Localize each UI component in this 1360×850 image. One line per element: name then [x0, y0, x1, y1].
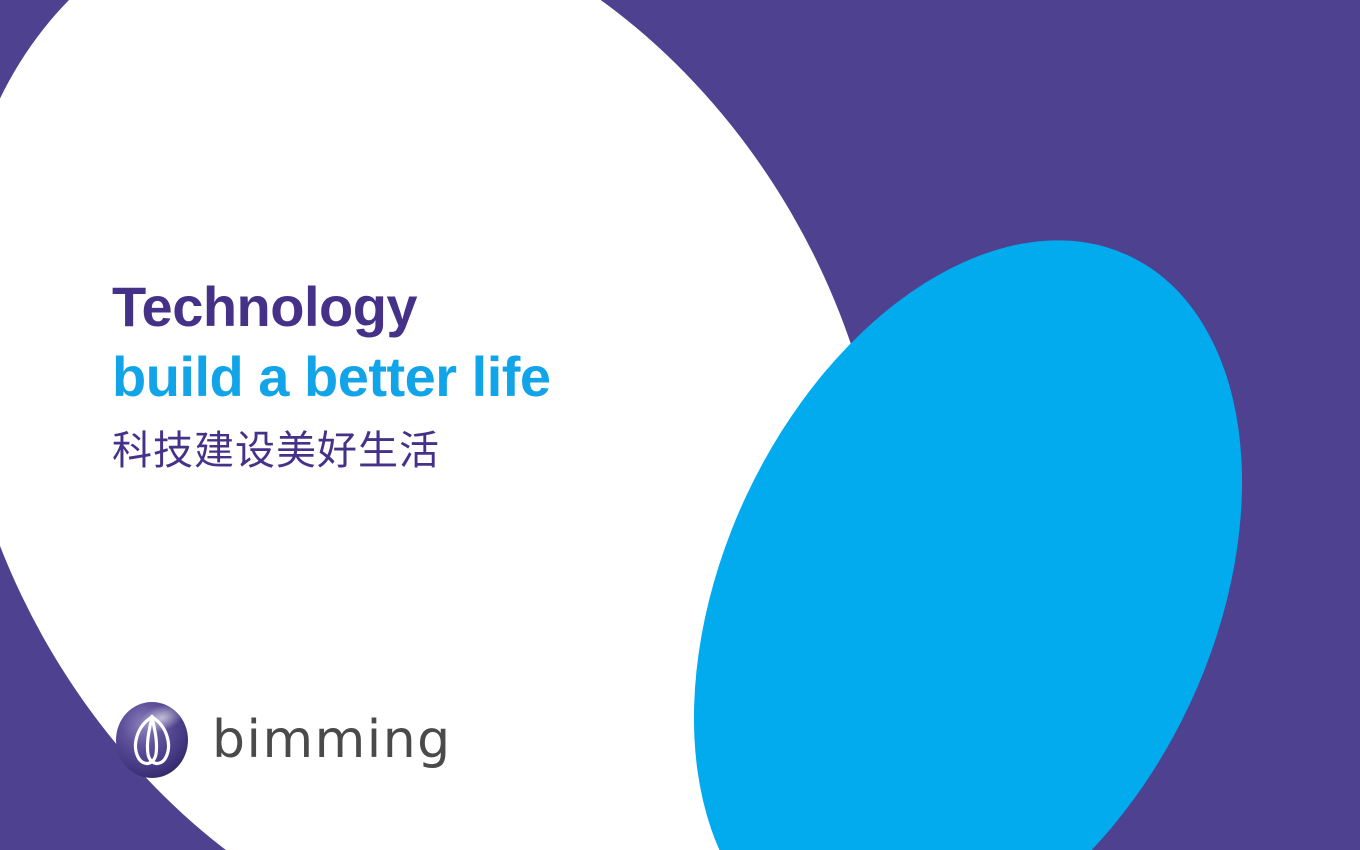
brand-logo-lockup: bimming: [114, 700, 452, 780]
headline-line-primary: Technology: [112, 272, 752, 342]
headline-line-secondary: build a better life: [112, 342, 752, 412]
bimming-sphere-logo-icon: [114, 700, 190, 780]
brand-wordmark: bimming: [212, 712, 452, 768]
presentation-slide: Technology build a better life 科技建设美好生活: [0, 0, 1360, 850]
subtitle-chinese: 科技建设美好生活: [112, 425, 440, 477]
headline-block: Technology build a better life: [112, 272, 752, 412]
